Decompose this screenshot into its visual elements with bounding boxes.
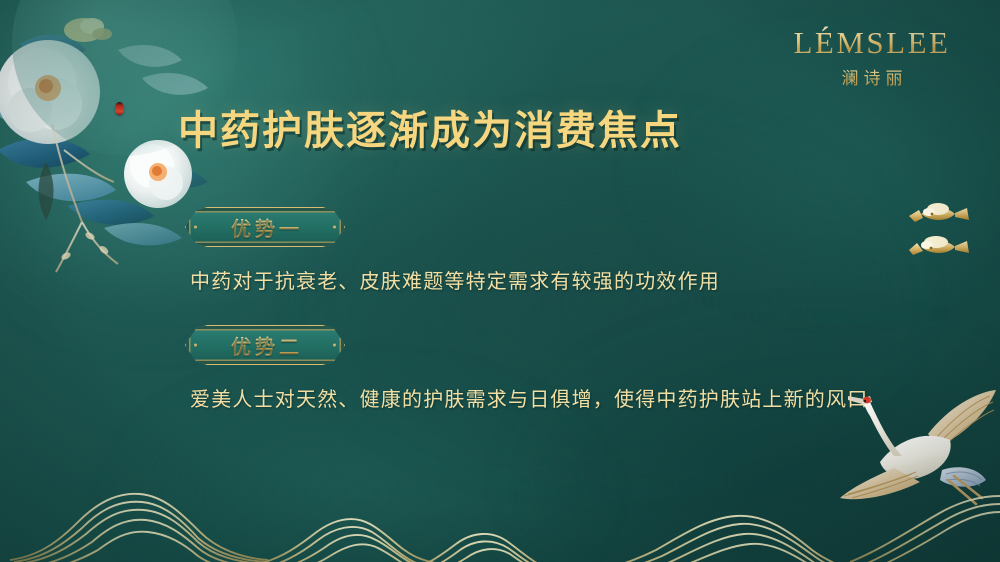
brand-logo: LÉMSLEE 澜诗丽	[772, 26, 972, 89]
advantage-badge-label-1: 优势一	[227, 213, 303, 242]
advantage-badge-2: 优势二	[185, 325, 345, 365]
advantage-text-2: 爱美人士对天然、健康的护肤需求与日俱增，使得中药护肤站上新的风口	[190, 380, 880, 419]
advantage-text-1: 中药对于抗衰老、皮肤难题等特定需求有较强的功效作用	[190, 262, 880, 301]
badge-dot-left	[194, 344, 197, 347]
badge-dot-right	[333, 344, 336, 347]
page-title: 中药护肤逐渐成为消费焦点	[178, 98, 682, 156]
advantage-badge-1: 优势一	[185, 207, 345, 247]
ladybug-icon	[115, 102, 124, 115]
gold-fish-motif	[905, 200, 975, 228]
badge-dot-right	[333, 226, 336, 229]
badge-dot-left	[194, 226, 197, 229]
brand-latin-name: LÉMSLEE	[772, 26, 972, 60]
mountain-line-art	[0, 452, 1000, 562]
advantage-badge-label-2: 优势二	[227, 331, 303, 360]
gold-fish-motif	[905, 232, 975, 260]
presentation-slide: LÉMSLEE 澜诗丽 中药护肤逐渐成为消费焦点 优势一 中药对于抗衰老、皮肤难…	[0, 0, 1000, 562]
brand-chinese-name: 澜诗丽	[772, 64, 972, 89]
